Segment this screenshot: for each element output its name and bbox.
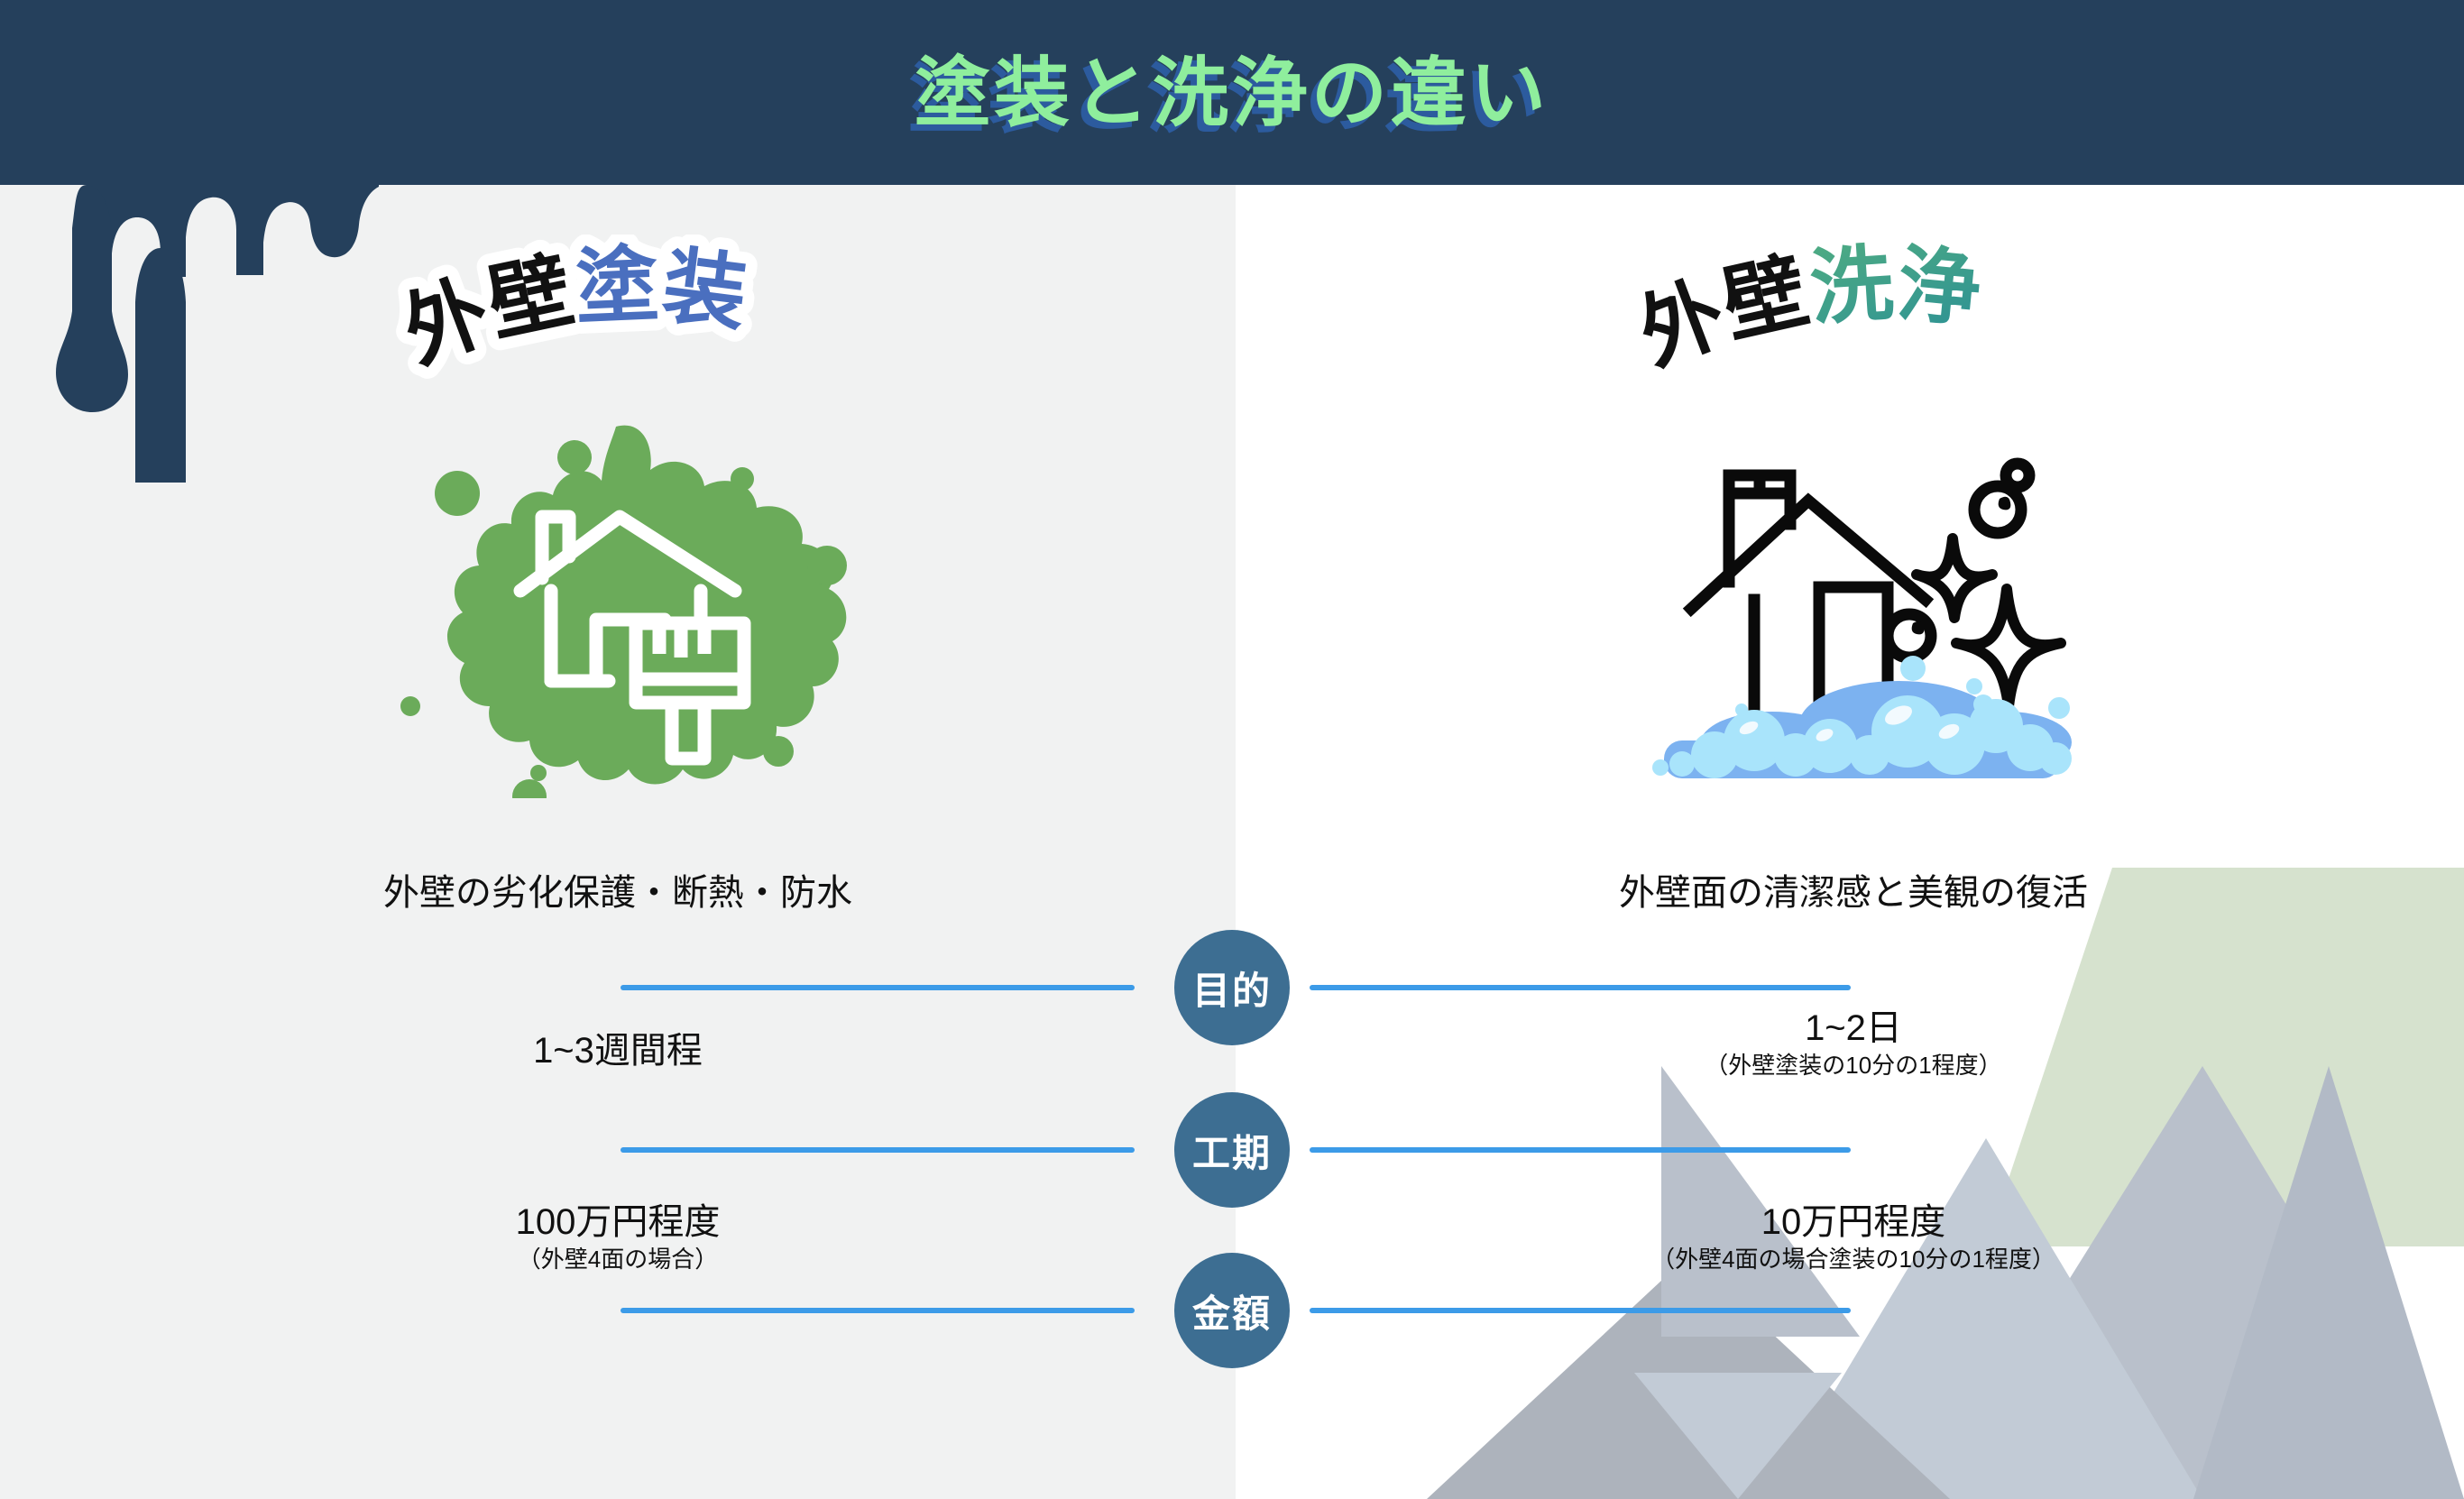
page-title: 塗装と洗浄の違い	[0, 32, 2464, 142]
infographic-slide: 外壁塗装 外壁 外壁塗装	[0, 0, 2464, 1499]
badge-term: 工期	[1174, 1092, 1290, 1208]
right-term-sub: （外壁塗装の10分の1程度）	[1236, 1051, 2464, 1081]
left-cost-sub: （外壁4面の場合）	[0, 1245, 1236, 1274]
right-cost-sub: （外壁4面の場合塗装の10分の1程度）	[1236, 1245, 2464, 1274]
left-term-cell: 1~3週間程	[0, 1028, 1236, 1073]
right-heading-arched-text: 外壁 外壁洗浄	[1619, 235, 2088, 388]
right-term-main: 1~2日	[1236, 1006, 2464, 1051]
right-purpose-main: 外壁面の清潔感と美観の復活	[1236, 870, 2464, 915]
svg-text:外壁: 外壁	[391, 244, 580, 380]
left-purpose-cell: 外壁の劣化保護・断熱・防水	[0, 870, 1236, 915]
right-purpose-cell: 外壁面の清潔感と美観の復活	[1236, 870, 2464, 915]
paint-splat-house-roller-icon	[383, 410, 852, 798]
right-column-heading: 外壁 外壁洗浄	[1236, 235, 2464, 388]
badge-cost: 金額	[1174, 1253, 1290, 1368]
house-bubbles-sparkle-icon	[1628, 437, 2079, 798]
left-heading-arched-text: 外壁塗装 外壁 外壁塗装	[383, 235, 852, 388]
right-cost-main: 10万円程度	[1236, 1200, 2464, 1245]
right-column: 外壁 外壁洗浄	[1236, 185, 2464, 1499]
left-term-main: 1~3週間程	[0, 1028, 1236, 1073]
left-purpose-main: 外壁の劣化保護・断熱・防水	[0, 870, 1236, 915]
right-cost-cell: 10万円程度 （外壁4面の場合塗装の10分の1程度）	[1236, 1200, 2464, 1274]
paint-drip-decoration	[0, 176, 379, 483]
svg-text:外壁: 外壁	[1627, 245, 1816, 382]
right-illustration	[1236, 437, 2464, 803]
header-band: 塗装と洗浄の違い	[0, 0, 2464, 185]
right-term-cell: 1~2日 （外壁塗装の10分の1程度）	[1236, 1006, 2464, 1081]
badge-purpose: 目的	[1174, 930, 1290, 1045]
left-cost-cell: 100万円程度 （外壁4面の場合）	[0, 1200, 1236, 1274]
left-cost-main: 100万円程度	[0, 1200, 1236, 1245]
